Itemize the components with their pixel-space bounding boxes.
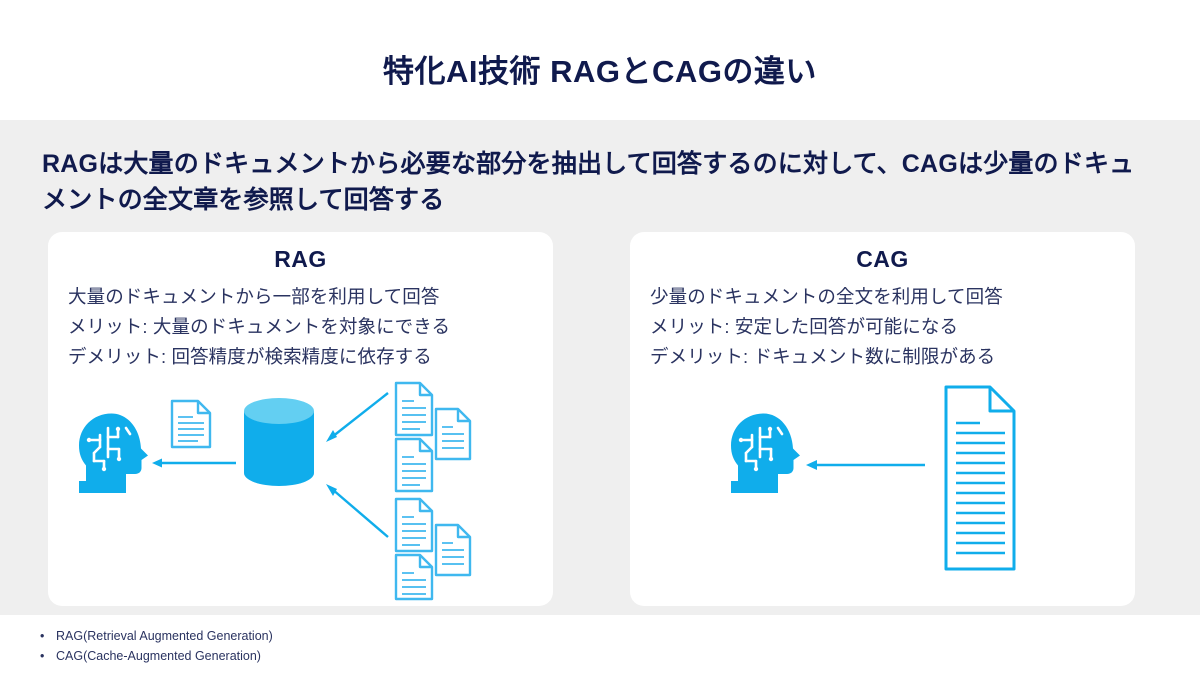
- database-cylinder-icon: [244, 398, 314, 486]
- brain-head-icon: [731, 414, 800, 494]
- arrow-left-icon: [806, 460, 925, 470]
- page-title: 特化AI技術 RAGとCAGの違い: [0, 46, 1200, 91]
- footnotes: • RAG(Retrieval Augmented Generation) • …: [40, 626, 273, 667]
- subtitle-text: RAGは大量のドキュメントから必要な部分を抽出して回答するのに対して、CAGは少…: [42, 147, 1157, 218]
- card-rag: RAG 大量のドキュメントから一部を利用して回答 メリット: 大量のドキュメント…: [48, 232, 553, 606]
- document-icon: [172, 401, 210, 447]
- bullet-icon: •: [40, 626, 56, 646]
- document-stack-icon: [396, 499, 470, 599]
- footnote-row: • CAG(Cache-Augmented Generation): [40, 646, 273, 666]
- document-stack-icon: [396, 383, 470, 491]
- card-rag-description: 大量のドキュメントから一部を利用して回答 メリット: 大量のドキュメントを対象に…: [68, 282, 539, 372]
- card-cag-line-3: デメリット: ドキュメント数に制限がある: [650, 342, 1121, 372]
- footnote-row: • RAG(Retrieval Augmented Generation): [40, 626, 273, 646]
- brain-head-icon: [79, 414, 148, 494]
- card-rag-line-2: メリット: 大量のドキュメントを対象にできる: [68, 312, 539, 342]
- card-cag-figure: [630, 377, 1135, 602]
- footnote-text-rag: RAG(Retrieval Augmented Generation): [56, 626, 273, 646]
- card-rag-line-3: デメリット: 回答精度が検索精度に依存する: [68, 342, 539, 372]
- arrow-diagonal-down-left-icon: [326, 393, 388, 442]
- card-cag: CAG 少量のドキュメントの全文を利用して回答 メリット: 安定した回答が可能に…: [630, 232, 1135, 606]
- card-cag-title: CAG: [630, 246, 1135, 273]
- footnote-text-cag: CAG(Cache-Augmented Generation): [56, 646, 261, 666]
- card-rag-line-1: 大量のドキュメントから一部を利用して回答: [68, 282, 539, 312]
- arrow-left-icon: [152, 459, 236, 468]
- card-rag-title: RAG: [48, 246, 553, 273]
- card-rag-figure: [48, 377, 553, 602]
- long-document-icon: [946, 387, 1014, 569]
- arrow-diagonal-up-left-icon: [326, 484, 388, 537]
- card-cag-line-1: 少量のドキュメントの全文を利用して回答: [650, 282, 1121, 312]
- bullet-icon: •: [40, 646, 56, 666]
- card-cag-description: 少量のドキュメントの全文を利用して回答 メリット: 安定した回答が可能になる デ…: [650, 282, 1121, 372]
- card-cag-line-2: メリット: 安定した回答が可能になる: [650, 312, 1121, 342]
